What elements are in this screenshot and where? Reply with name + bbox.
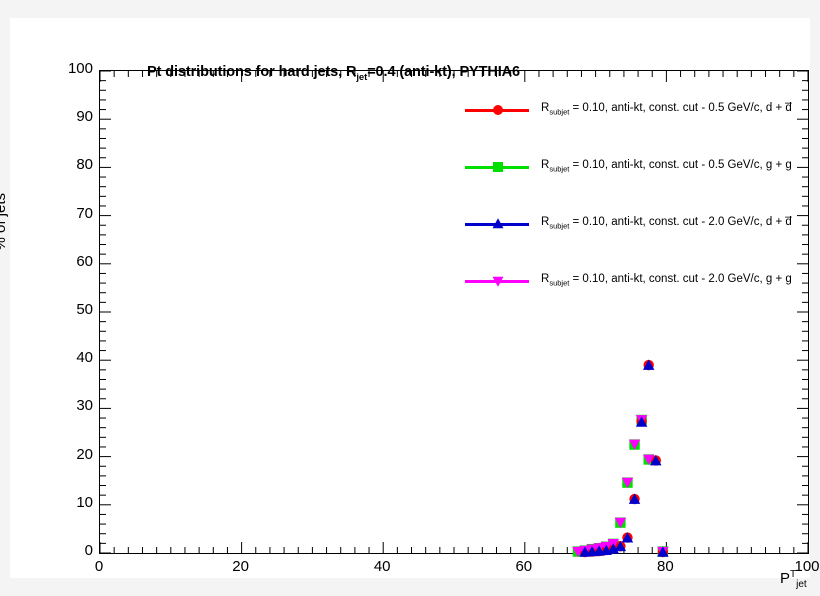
legend-label-text: = 0.10, anti-kt, const. cut - 2.0 GeV/c,… (569, 216, 791, 228)
x-tick-label: 20 (217, 558, 265, 575)
legend-label-text: = 0.10, anti-kt, const. cut - 0.5 GeV/c,… (569, 102, 791, 114)
y-tick-label: 50 (47, 301, 93, 318)
legend-label-subscript: subjet (549, 278, 569, 287)
y-tick-label: 0 (47, 542, 93, 559)
x-axis-title: PTjet (780, 569, 807, 590)
legend-marker-circle-icon (491, 103, 505, 117)
y-tick-label: 20 (47, 446, 93, 463)
legend-label: Rsubjet = 0.10, anti-kt, const. cut - 2.… (541, 273, 792, 287)
x-tick-label: 80 (641, 558, 689, 575)
y-tick-label: 40 (47, 349, 93, 366)
y-tick-label: 70 (47, 205, 93, 222)
y-tick-label: 30 (47, 397, 93, 414)
x-tick-label: 0 (75, 558, 123, 575)
y-tick-label: 60 (47, 253, 93, 270)
legend: Rsubjet = 0.10, anti-kt, const. cut - 0.… (465, 98, 805, 326)
x-tick-label: 60 (500, 558, 548, 575)
legend-label-text: = 0.10, anti-kt, const. cut - 0.5 GeV/c,… (569, 159, 791, 171)
y-axis-title: % of jets (0, 193, 9, 251)
legend-label: Rsubjet = 0.10, anti-kt, const. cut - 0.… (541, 102, 792, 116)
legend-entry[interactable]: Rsubjet = 0.10, anti-kt, const. cut - 0.… (465, 98, 805, 155)
legend-marker-square-icon (491, 160, 505, 174)
legend-marker-triangle-up-icon (491, 217, 505, 231)
plot-canvas: Pt distributions for hard jets, Rjet=0.4… (10, 18, 810, 578)
x-axis-title-subscript: jet (796, 579, 807, 590)
y-tick-label: 90 (47, 108, 93, 125)
y-tick-label: 100 (47, 60, 93, 77)
legend-label-text: = 0.10, anti-kt, const. cut - 2.0 GeV/c,… (569, 273, 791, 285)
series-1 (573, 415, 668, 557)
legend-entry[interactable]: Rsubjet = 0.10, anti-kt, const. cut - 0.… (465, 155, 805, 212)
x-axis-title-base: P (780, 570, 790, 587)
legend-label-subscript: subjet (549, 164, 569, 173)
legend-entry[interactable]: Rsubjet = 0.10, anti-kt, const. cut - 2.… (465, 269, 805, 326)
series-3 (572, 415, 668, 557)
legend-label-subscript: subjet (549, 107, 569, 116)
x-tick-label: 40 (358, 558, 406, 575)
legend-marker-triangle-down-icon (491, 274, 505, 288)
screenshot-root: Pt distributions for hard jets, Rjet=0.4… (0, 0, 820, 596)
legend-entry[interactable]: Rsubjet = 0.10, anti-kt, const. cut - 2.… (465, 212, 805, 269)
legend-label: Rsubjet = 0.10, anti-kt, const. cut - 2.… (541, 216, 792, 230)
y-tick-label: 10 (47, 494, 93, 511)
legend-label-subscript: subjet (549, 221, 569, 230)
y-tick-label: 80 (47, 156, 93, 173)
legend-label: Rsubjet = 0.10, anti-kt, const. cut - 0.… (541, 159, 792, 173)
